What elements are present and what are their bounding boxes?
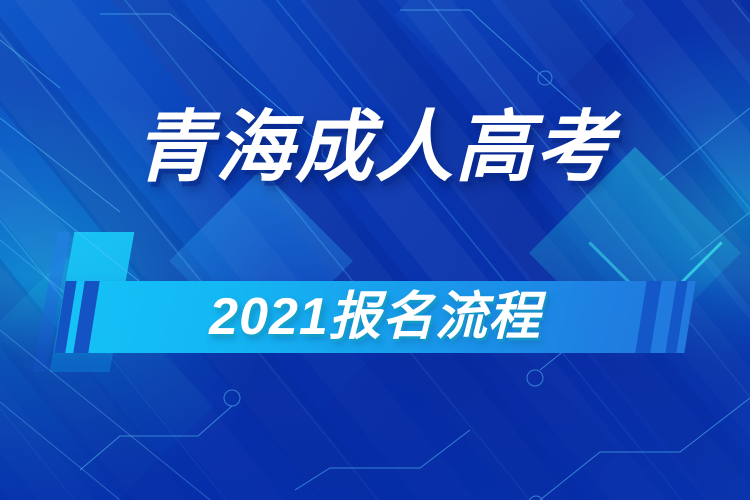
- poster-banner: 青海成人高考 2021报名流程: [0, 0, 750, 500]
- poster-subtitle: 2021报名流程: [209, 291, 541, 343]
- poster-title-container: 青海成人高考: [0, 108, 750, 186]
- circuit-trace-lines: [0, 0, 750, 500]
- poster-title: 青海成人高考: [135, 108, 615, 186]
- subtitle-container: 2021报名流程: [60, 281, 690, 353]
